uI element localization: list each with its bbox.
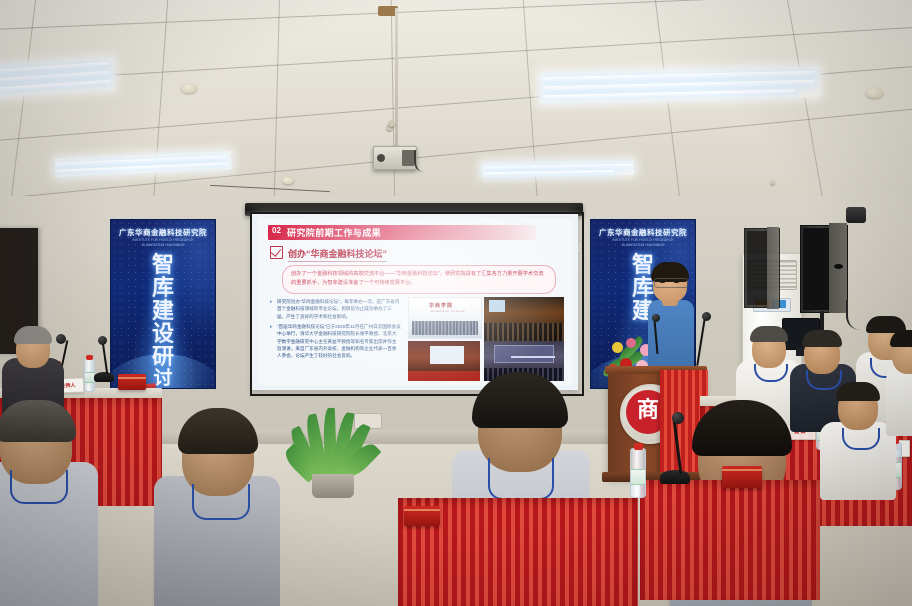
banner-right-organization: 广东华商金融科技研究院 [591, 227, 695, 238]
ceiling-tile-grid [0, 0, 912, 210]
projector-drop-rod [395, 8, 398, 146]
smoke-detector-icon [282, 177, 294, 184]
flower-icon [626, 338, 636, 348]
gift-box [722, 466, 762, 488]
projector-lens-icon [377, 154, 385, 162]
banner-right-organization-en-line1: INSTITUTE FOR FINTECH RESEARCH [591, 238, 695, 242]
table-microphone-head [56, 334, 66, 344]
banner-left: 广东华商金融科技研究院 INSTITUTE FOR FINTECH RESEAR… [110, 219, 216, 389]
table-microphone-head [672, 412, 684, 424]
banner-left-title-char: 建 [111, 300, 215, 322]
table-red-skirt [640, 480, 820, 600]
smoke-detector-icon [181, 84, 197, 93]
suspended-ceiling [0, 0, 912, 210]
sprinkler-head-icon [388, 120, 395, 127]
lanyard [192, 484, 250, 520]
banner-left-title-char: 设 [111, 323, 215, 345]
monitor-stand [796, 348, 804, 356]
flower-icon [612, 342, 623, 353]
banner-left-organization-en-line2: GUANGDONG HUASHANG [111, 243, 215, 247]
pa-speaker-wall [800, 225, 848, 313]
banner-left-title-char: 库 [111, 277, 215, 299]
podium-microphone-head [652, 314, 660, 322]
lanyard [488, 458, 554, 500]
speaker-grill-icon [747, 231, 767, 305]
conference-room-photo: 广东华商金融科技研究院 INSTITUTE FOR FINTECH RESEAR… [0, 0, 912, 606]
podium: 商 [608, 372, 704, 476]
podium-microphone-head [702, 312, 711, 321]
banner-right-organization-en-line2: GUANGDONG HUASHANG [591, 243, 695, 247]
banner-left-title-char: 智 [111, 254, 215, 276]
sprinkler-head-icon [770, 180, 775, 185]
front-right-table [640, 480, 820, 600]
speaker-side [767, 227, 779, 309]
projector-cable [414, 150, 430, 172]
projection-screen-frame [250, 212, 584, 396]
gift-box [404, 506, 440, 526]
plant-pot [312, 474, 354, 498]
table-microphone-base [660, 470, 690, 484]
speaker-grill-icon [803, 228, 829, 310]
banner-left-organization-en-line1: INSTITUTE FOR FINTECH RESEARCH [111, 238, 215, 242]
water-bottle [630, 448, 646, 498]
gift-box [118, 374, 146, 390]
glasses-icon [654, 278, 688, 288]
potted-plant [288, 400, 378, 496]
banner-left-title-char: 研 [111, 346, 215, 368]
table-microphone-head [98, 336, 107, 345]
table-microphone-base [94, 372, 114, 382]
lanyard [10, 470, 68, 504]
smoke-detector-icon [866, 88, 883, 98]
banner-left-organization: 广东华商金融科技研究院 [111, 227, 215, 238]
ceiling-light-panel [482, 161, 634, 178]
ceiling-projector [373, 146, 417, 170]
wall-mounted-speaker [846, 207, 866, 223]
pa-speaker-right-rear [744, 228, 780, 308]
speaker-port-icon [834, 264, 843, 269]
